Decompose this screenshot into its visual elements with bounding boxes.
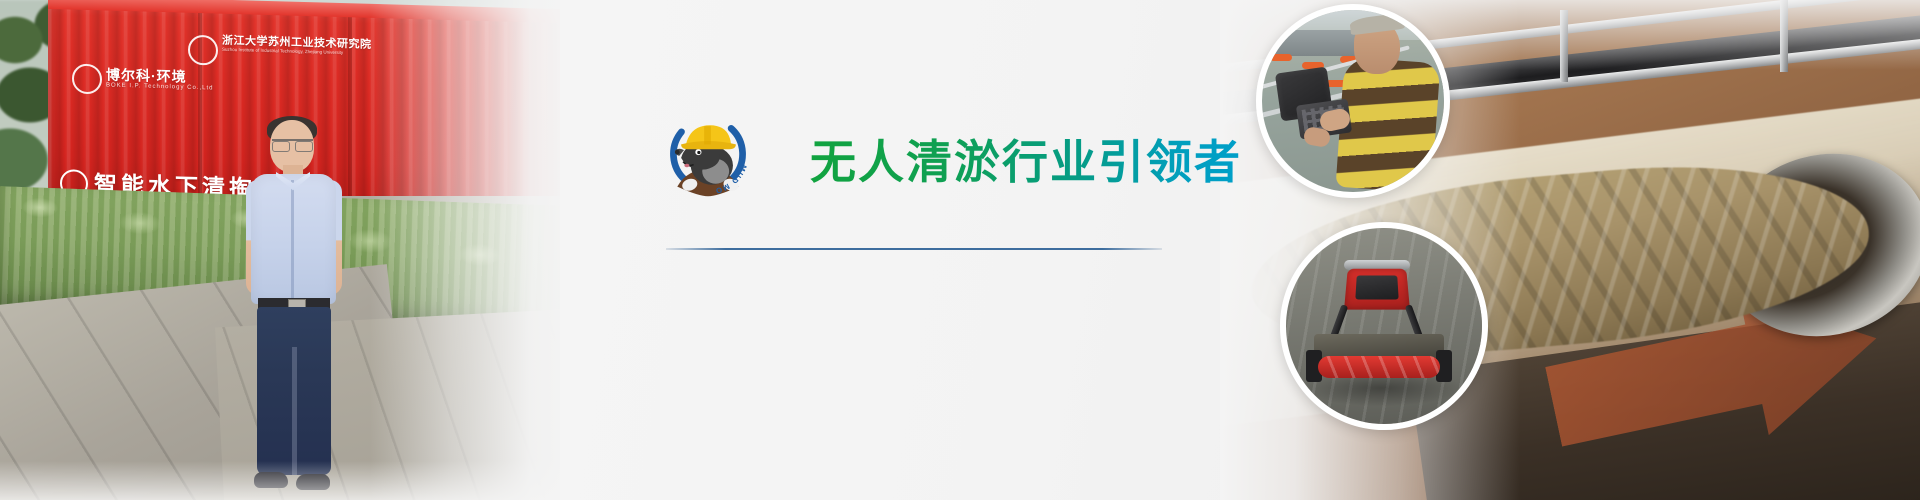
operator-console-photo xyxy=(1256,4,1450,198)
auger-screw xyxy=(1318,356,1440,378)
mud-mole-logo-icon: MUD MOLE xyxy=(660,106,756,202)
person-jeans xyxy=(257,307,331,475)
hero-banner: 博尔科·环境 BOKE I.P. Technology Co.,Ltd 浙江大学… xyxy=(0,0,1920,500)
left-photo-right-fade xyxy=(370,0,560,500)
divider-line xyxy=(666,248,1162,250)
glasses-icon xyxy=(272,139,313,150)
factory-container-photo: 博尔科·环境 BOKE I.P. Technology Co.,Ltd 浙江大学… xyxy=(0,0,560,500)
operator-body xyxy=(1336,57,1441,193)
container-brand-mark xyxy=(72,64,102,95)
mud-mole-logo: MUD MOLE xyxy=(660,106,756,202)
robot-body-frame xyxy=(1344,269,1410,310)
page-title: 无人清淤行业引领者 xyxy=(810,126,1242,192)
partner-brand-mark xyxy=(188,35,218,66)
person-shirt xyxy=(251,174,336,304)
engineer-person xyxy=(238,120,348,500)
orange-float xyxy=(1270,54,1292,61)
dredging-robot-photo xyxy=(1280,222,1488,430)
center-content: MUD MOLE 无人清淤行业引领者 xyxy=(660,0,1180,500)
